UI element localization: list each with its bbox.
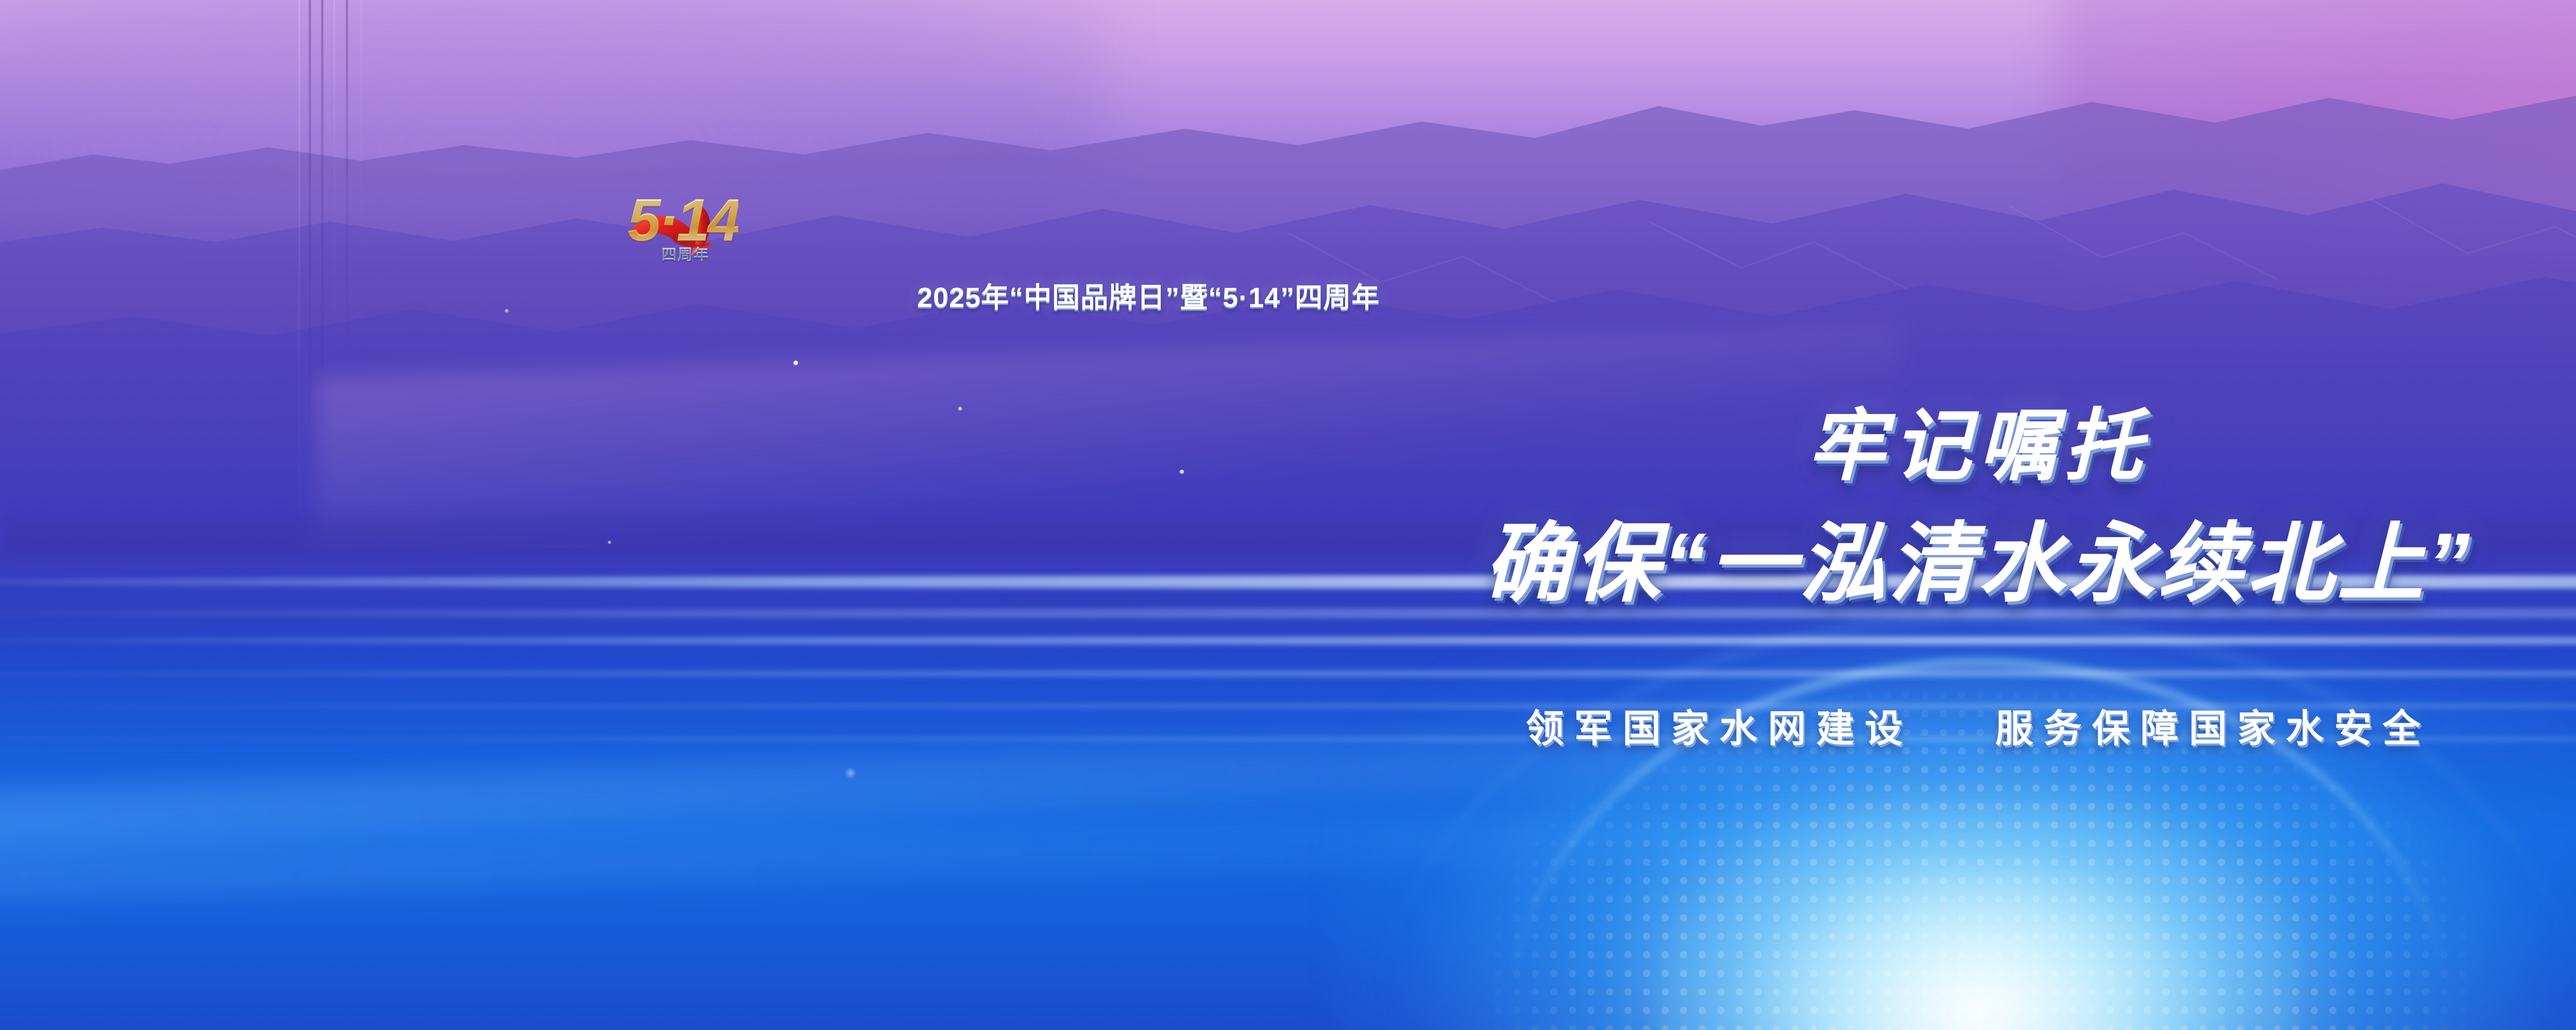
headline-line-1: 牢记嘱托 bbox=[0, 382, 2576, 495]
anniversary-sub-label: 四周年 bbox=[662, 243, 709, 264]
banner-canvas: 5·14 四周年 2025年“中国品牌日”暨“5·14”四周年 牢记嘱托 确保“… bbox=[0, 0, 2576, 1030]
anniversary-emblem: 5·14 四周年 bbox=[628, 193, 738, 263]
subtitle-left: 领军国家水网建设 bbox=[1526, 707, 1913, 750]
headline-line-2: 确保“一泓清水永续北上” bbox=[0, 493, 2576, 619]
anniversary-numerals: 5·14 bbox=[628, 190, 738, 250]
banner-content: 5·14 四周年 2025年“中国品牌日”暨“5·14”四周年 牢记嘱托 确保“… bbox=[0, 0, 2576, 1030]
event-title-line: 2025年“中国品牌日”暨“5·14”四周年 bbox=[917, 274, 1380, 315]
subtitle-line: 领军国家水网建设 服务保障国家水安全 bbox=[0, 698, 2576, 753]
subtitle-right: 服务保障国家水安全 bbox=[1995, 707, 2431, 750]
